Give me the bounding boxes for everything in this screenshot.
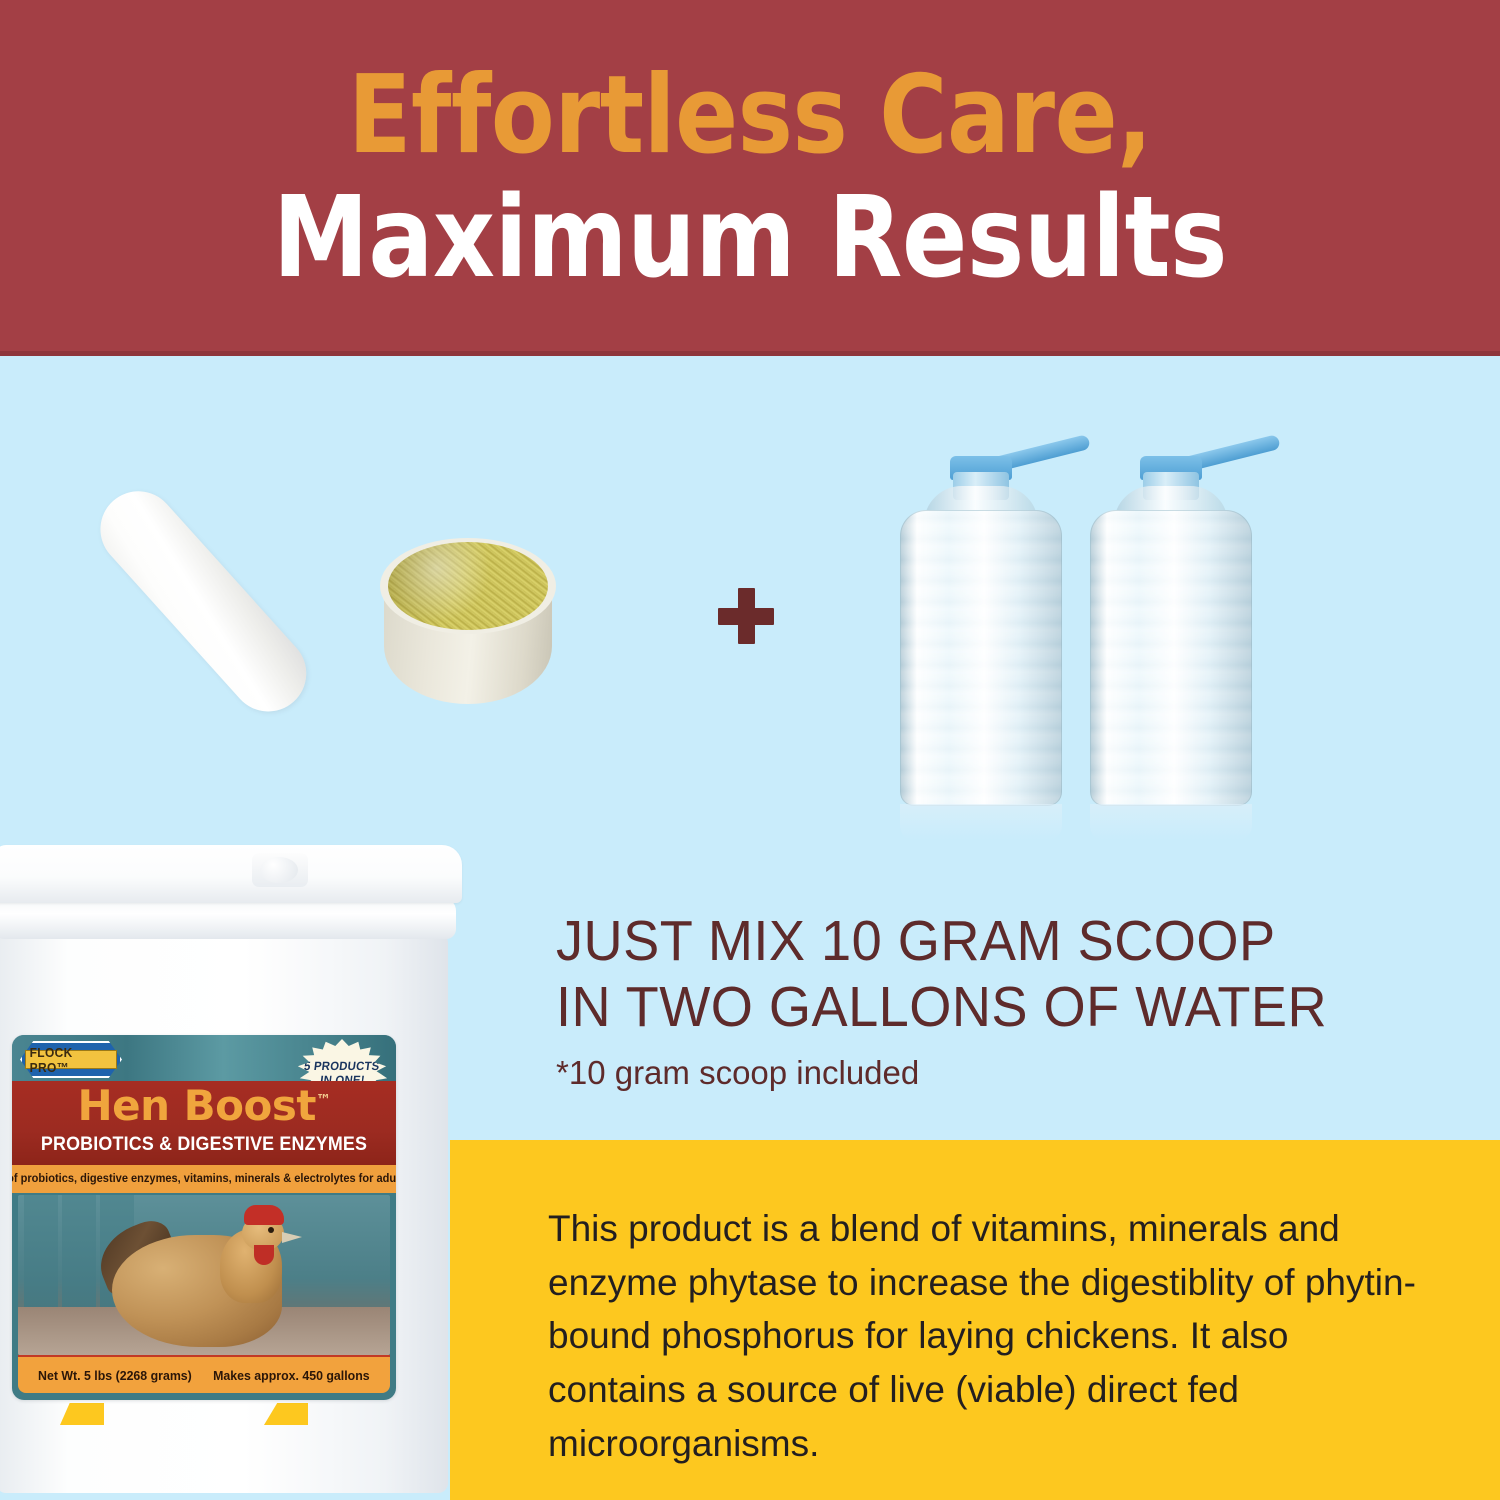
info-paragraph: This product is a blend of vitamins, min… — [548, 1202, 1428, 1470]
product-infographic: Effortless Care, Maximum Results — [0, 0, 1500, 1500]
mix-instruction-block: JUST MIX 10 GRAM SCOOP IN TWO GALLONS OF… — [556, 908, 1486, 1092]
water-bottle-left — [900, 456, 1062, 806]
starburst-line-1: 5 PRODUCTS — [303, 1060, 380, 1074]
bottle-reflection — [1090, 804, 1252, 840]
powder-shading — [388, 542, 548, 630]
label-footer-bar: Net Wt. 5 lbs (2268 grams) Makes approx.… — [18, 1355, 390, 1393]
header-banner: Effortless Care, Maximum Results — [0, 0, 1500, 356]
headline-line-1: Effortless Care, — [105, 62, 1395, 170]
water-bottles-image — [892, 438, 1272, 828]
hen-illustration — [102, 1203, 312, 1355]
bucket-lid-rim — [0, 897, 456, 939]
flock-pro-badge: FLOCK PRO™ — [20, 1041, 122, 1078]
brand-band: FLOCK PRO™ — [25, 1050, 117, 1069]
product-name-text: Hen Boost — [78, 1081, 316, 1130]
water-bottle-right — [1090, 456, 1252, 806]
bucket-lid — [0, 845, 462, 903]
hen-eye — [268, 1227, 274, 1233]
hen-photo — [18, 1195, 390, 1355]
info-panel: This product is a blend of vitamins, min… — [450, 1140, 1500, 1500]
mix-instruction-line-1: JUST MIX 10 GRAM SCOOP — [556, 908, 1440, 974]
measuring-scoop-image — [196, 430, 616, 760]
label-tagline-bar: A blend of probiotics, digestive enzymes… — [12, 1165, 396, 1193]
label-tagline-text: A blend of probiotics, digestive enzymes… — [12, 1173, 396, 1185]
trademark-symbol: ™ — [316, 1091, 331, 1109]
hen-beak — [282, 1232, 302, 1243]
mix-instruction-footnote: *10 gram scoop included — [556, 1054, 1486, 1092]
bucket-latch-button — [252, 853, 308, 887]
bottle-body — [1090, 510, 1252, 806]
brand-name-text: FLOCK PRO™ — [30, 1045, 113, 1075]
bottle-body — [900, 510, 1062, 806]
product-subtitle: PROBIOTICS & DIGESTIVE ENZYMES — [24, 1134, 385, 1156]
headline-line-2: Maximum Results — [105, 182, 1395, 294]
bottle-reflection — [900, 804, 1062, 840]
hen-wattle — [254, 1245, 274, 1265]
product-label: FLOCK PRO™ 5 PRODUCTS IN ONE! Hen Boost™… — [12, 1035, 396, 1400]
yield-text: Makes approx. 450 gallons — [213, 1368, 369, 1383]
product-name: Hen Boost™ — [12, 1085, 396, 1127]
net-weight-text: Net Wt. 5 lbs (2268 grams) — [38, 1368, 192, 1383]
hen-comb — [244, 1205, 284, 1225]
plus-icon — [718, 588, 774, 644]
mix-instruction-line-2: IN TWO GALLONS OF WATER — [556, 974, 1440, 1040]
